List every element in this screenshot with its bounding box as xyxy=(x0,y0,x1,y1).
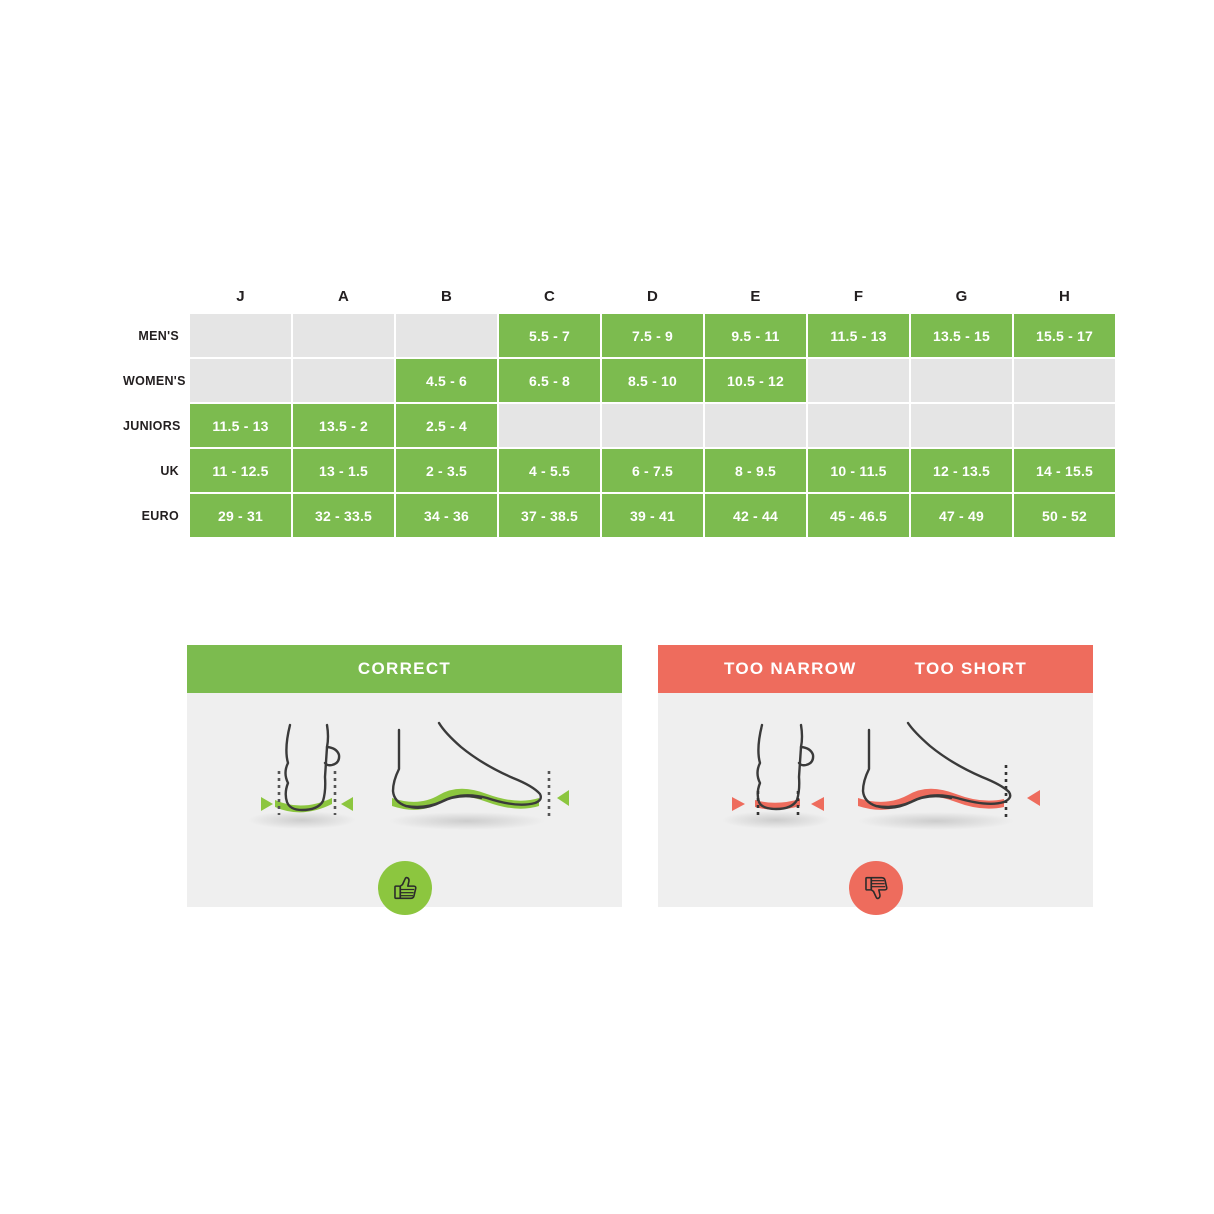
foot-front-view-correct xyxy=(248,725,356,829)
row-label-juniors: JUNIORS xyxy=(122,404,188,447)
fit-arrow-right-front xyxy=(811,797,824,811)
cell-juniors-b: 2.5 - 4 xyxy=(396,404,497,447)
foot-diagram-svg-incorrect xyxy=(658,703,1093,853)
cell-euro-e: 42 - 44 xyxy=(705,494,806,537)
thumbs-up-icon xyxy=(390,873,420,903)
fit-panel-too-short-title: TOO SHORT xyxy=(915,645,1027,693)
cell-uk-g: 12 - 13.5 xyxy=(911,449,1012,492)
fit-panel-correct-title: CORRECT xyxy=(358,645,451,693)
column-header-j: J xyxy=(190,285,291,312)
cell-womens-b: 4.5 - 6 xyxy=(396,359,497,402)
cell-mens-e: 9.5 - 11 xyxy=(705,314,806,357)
fit-arrow-right-front xyxy=(341,797,353,811)
cell-juniors-h xyxy=(1014,404,1115,447)
table-row: WOMEN'S 4.5 - 6 6.5 - 8 8.5 - 10 10.5 - … xyxy=(122,359,1115,402)
cell-mens-g: 13.5 - 15 xyxy=(911,314,1012,357)
column-header-g: G xyxy=(911,285,1012,312)
cell-womens-f xyxy=(808,359,909,402)
foot-outline-front xyxy=(286,725,329,810)
fit-arrow-left-front xyxy=(261,797,273,811)
cell-uk-b: 2 - 3.5 xyxy=(396,449,497,492)
size-chart-header-row: J A B C D E F G H xyxy=(122,285,1115,312)
cell-mens-b xyxy=(396,314,497,357)
fit-panel-correct-body xyxy=(187,693,622,907)
size-chart: J A B C D E F G H MEN'S 5.5 - 7 7.5 - 9 … xyxy=(120,283,1096,539)
cell-mens-c: 5.5 - 7 xyxy=(499,314,600,357)
cell-womens-j xyxy=(190,359,291,402)
fit-panel-correct: CORRECT xyxy=(187,645,622,907)
verdict-badge-correct xyxy=(378,861,432,915)
cell-euro-j: 29 - 31 xyxy=(190,494,291,537)
column-header-h: H xyxy=(1014,285,1115,312)
foot-shadow-side xyxy=(858,812,1014,830)
size-chart-table: J A B C D E F G H MEN'S 5.5 - 7 7.5 - 9 … xyxy=(120,283,1117,539)
foot-shadow-side xyxy=(389,812,545,830)
foot-side-view-correct xyxy=(389,723,569,830)
cell-uk-a: 13 - 1.5 xyxy=(293,449,394,492)
cell-womens-d: 8.5 - 10 xyxy=(602,359,703,402)
cell-euro-d: 39 - 41 xyxy=(602,494,703,537)
foot-diagrams-correct xyxy=(187,703,622,843)
cell-uk-f: 10 - 11.5 xyxy=(808,449,909,492)
foot-shadow-front xyxy=(722,811,830,829)
column-header-a: A xyxy=(293,285,394,312)
foot-diagrams-incorrect xyxy=(658,703,1093,843)
cell-womens-h xyxy=(1014,359,1115,402)
cell-juniors-e xyxy=(705,404,806,447)
cell-mens-d: 7.5 - 9 xyxy=(602,314,703,357)
cell-euro-f: 45 - 46.5 xyxy=(808,494,909,537)
cell-womens-c: 6.5 - 8 xyxy=(499,359,600,402)
fit-arrow-toe-side xyxy=(557,790,569,806)
cell-juniors-g xyxy=(911,404,1012,447)
cell-uk-h: 14 - 15.5 xyxy=(1014,449,1115,492)
verdict-badge-incorrect xyxy=(849,861,903,915)
row-label-womens: WOMEN'S xyxy=(122,359,188,402)
fit-panel-incorrect: TOO NARROW TOO SHORT xyxy=(658,645,1093,907)
column-header-c: C xyxy=(499,285,600,312)
row-label-mens: MEN'S xyxy=(122,314,188,357)
cell-mens-h: 15.5 - 17 xyxy=(1014,314,1115,357)
fit-panel-correct-header: CORRECT xyxy=(187,645,622,693)
cell-uk-j: 11 - 12.5 xyxy=(190,449,291,492)
column-header-d: D xyxy=(602,285,703,312)
table-row: EURO 29 - 31 32 - 33.5 34 - 36 37 - 38.5… xyxy=(122,494,1115,537)
foot-front-view-narrow xyxy=(722,725,830,829)
fit-guide: CORRECT xyxy=(187,645,1093,907)
table-row: MEN'S 5.5 - 7 7.5 - 9 9.5 - 11 11.5 - 13… xyxy=(122,314,1115,357)
thumbs-down-icon xyxy=(861,873,891,903)
row-label-uk: UK xyxy=(122,449,188,492)
cell-juniors-j: 11.5 - 13 xyxy=(190,404,291,447)
cell-euro-b: 34 - 36 xyxy=(396,494,497,537)
cell-euro-h: 50 - 52 xyxy=(1014,494,1115,537)
cell-mens-a xyxy=(293,314,394,357)
cell-juniors-f xyxy=(808,404,909,447)
cell-uk-e: 8 - 9.5 xyxy=(705,449,806,492)
cell-juniors-a: 13.5 - 2 xyxy=(293,404,394,447)
cell-womens-e: 10.5 - 12 xyxy=(705,359,806,402)
column-header-e: E xyxy=(705,285,806,312)
foot-shadow-front xyxy=(248,811,356,829)
size-chart-corner xyxy=(122,285,188,312)
cell-uk-c: 4 - 5.5 xyxy=(499,449,600,492)
foot-side-view-short xyxy=(858,723,1040,830)
row-label-euro: EURO xyxy=(122,494,188,537)
fit-panel-incorrect-header: TOO NARROW TOO SHORT xyxy=(658,645,1093,693)
fit-panel-incorrect-body xyxy=(658,693,1093,907)
table-row: JUNIORS 11.5 - 13 13.5 - 2 2.5 - 4 xyxy=(122,404,1115,447)
column-header-b: B xyxy=(396,285,497,312)
cell-mens-f: 11.5 - 13 xyxy=(808,314,909,357)
cell-euro-a: 32 - 33.5 xyxy=(293,494,394,537)
fit-arrow-left-front xyxy=(732,797,745,811)
fit-panel-too-narrow-title: TOO NARROW xyxy=(724,645,857,693)
column-header-f: F xyxy=(808,285,909,312)
foot-outline-front xyxy=(758,725,803,809)
cell-mens-j xyxy=(190,314,291,357)
cell-womens-g xyxy=(911,359,1012,402)
cell-womens-a xyxy=(293,359,394,402)
fit-arrow-toe-side xyxy=(1027,790,1040,806)
cell-euro-g: 47 - 49 xyxy=(911,494,1012,537)
cell-uk-d: 6 - 7.5 xyxy=(602,449,703,492)
foot-diagram-svg-correct xyxy=(187,703,622,853)
cell-juniors-d xyxy=(602,404,703,447)
cell-euro-c: 37 - 38.5 xyxy=(499,494,600,537)
cell-juniors-c xyxy=(499,404,600,447)
table-row: UK 11 - 12.5 13 - 1.5 2 - 3.5 4 - 5.5 6 … xyxy=(122,449,1115,492)
